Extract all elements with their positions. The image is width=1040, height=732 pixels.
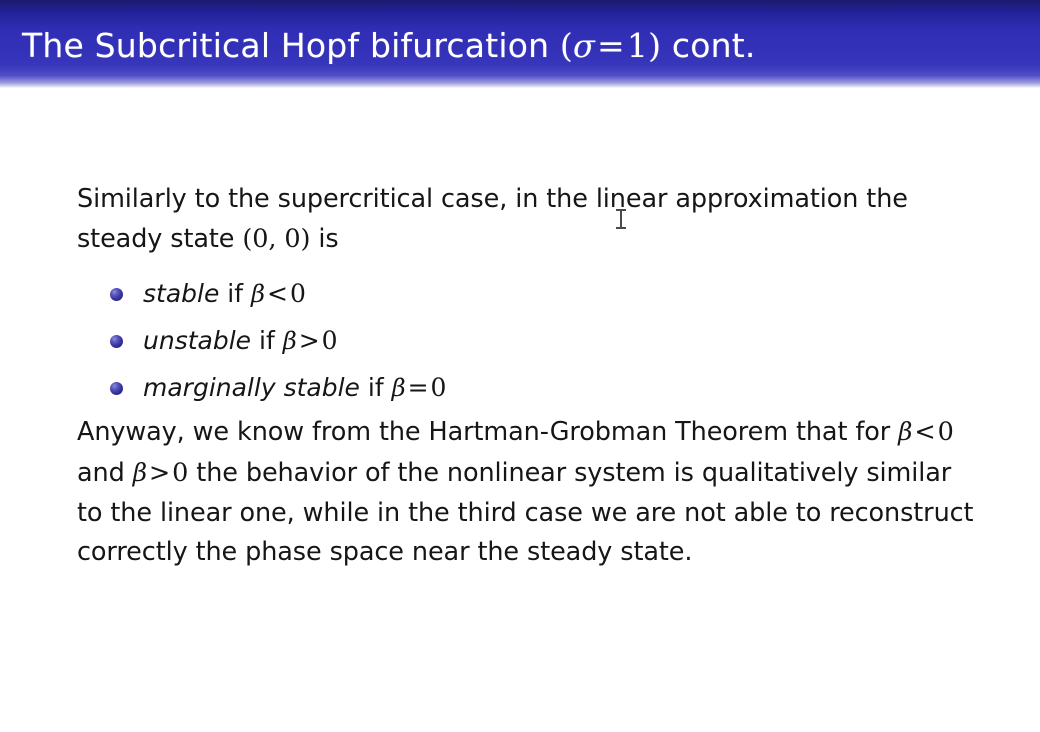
bullet-relation-sign: =	[406, 373, 431, 402]
slide-title-bar: The Subcritical Hopf bifurcation (σ=1) c…	[0, 0, 1040, 88]
bullet-dot-icon	[110, 335, 123, 348]
intro-paragraph: Similarly to the supercritical case, in …	[77, 180, 957, 259]
title-close-paren: )	[648, 26, 661, 65]
intro-text-part2: is	[310, 224, 338, 254]
bullet-connector: if	[251, 326, 283, 355]
bullet-connector: if	[219, 279, 251, 308]
intro-text-part1: Similarly to the supercritical case, in …	[77, 184, 908, 254]
outro-relation-sign-1: <	[912, 417, 937, 447]
bullet-value: 0	[431, 373, 447, 402]
title-suffix: cont.	[661, 26, 755, 65]
intro-steady-state-point: (0, 0)	[242, 224, 310, 254]
title-sigma-value: 1	[627, 26, 648, 65]
outro-value-1: 0	[938, 417, 954, 447]
bullet-beta-symbol: β	[251, 279, 265, 308]
outro-beta-symbol-2: β	[133, 458, 147, 487]
list-item: unstable if β>0	[110, 317, 960, 364]
bullet-value: 0	[322, 326, 338, 355]
slide-content-area: Similarly to the supercritical case, in …	[0, 88, 1040, 732]
bullet-relation-sign: >	[297, 326, 322, 355]
outro-beta-symbol-1: β	[898, 417, 912, 446]
bullet-emphasis-marginally-stable: marginally stable	[143, 373, 360, 402]
page-title: The Subcritical Hopf bifurcation (σ=1) c…	[22, 26, 756, 66]
list-item: stable if β<0	[110, 270, 960, 317]
bullet-connector: if	[360, 373, 392, 402]
title-open-paren: (	[560, 26, 573, 65]
bullet-emphasis-unstable: unstable	[143, 326, 251, 355]
outro-relation-sign-2: >	[147, 458, 172, 488]
list-item: marginally stable if β=0	[110, 364, 960, 411]
bullet-dot-icon	[110, 382, 123, 395]
outro-value-2: 0	[172, 458, 188, 488]
outro-paragraph: Anyway, we know from the Hartman-Grobman…	[77, 412, 982, 573]
bullet-relation-sign: <	[265, 279, 290, 308]
bullet-emphasis-stable: stable	[143, 279, 219, 308]
bullet-value: 0	[290, 279, 306, 308]
stability-conditions-list: stable if β<0 unstable if β>0 marginally…	[110, 270, 960, 411]
outro-text-part1: Anyway, we know from the Hartman-Grobman…	[77, 417, 898, 447]
bullet-beta-symbol: β	[283, 326, 297, 355]
title-equals-sign: =	[595, 26, 627, 65]
title-sigma-symbol: σ	[573, 27, 595, 65]
outro-text-part2: and	[77, 458, 133, 488]
title-prefix: The Subcritical Hopf bifurcation	[22, 26, 560, 65]
bullet-dot-icon	[110, 288, 123, 301]
bullet-beta-symbol: β	[392, 373, 406, 402]
outro-text-part3: the behavior of the nonlinear system is …	[77, 458, 973, 568]
